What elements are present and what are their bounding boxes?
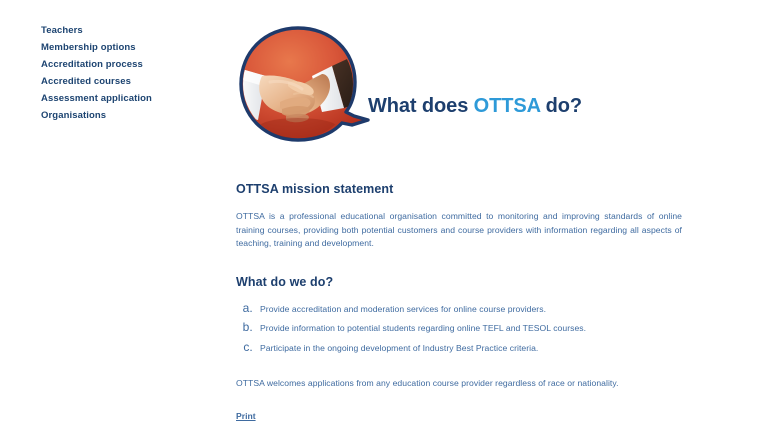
list-item-text: Provide information to potential student… [260,323,586,333]
mission-statement-heading: OTTSA mission statement [236,182,682,196]
speech-bubble-icon [236,24,388,148]
print-link[interactable]: Print [236,411,256,421]
list-item-text: Participate in the ongoing development o… [260,343,538,353]
page-title: What does OTTSA do? [368,95,582,118]
page-header: What does OTTSA do? [236,24,706,148]
page-title-suffix: do? [540,95,582,117]
sidebar-item-membership-options[interactable]: Membership options [41,39,216,56]
list-item: Provide accreditation and moderation ser… [256,299,682,319]
speech-bubble-graphic [236,24,388,148]
sidebar-item-accreditation-process[interactable]: Accreditation process [41,56,216,73]
sidebar-item-teachers[interactable]: Teachers [41,22,216,39]
closing-statement-text: OTTSA welcomes applications from any edu… [236,377,682,391]
page-title-highlight: OTTSA [474,95,541,117]
sidebar-item-accredited-courses[interactable]: Accredited courses [41,73,216,90]
sidebar-navigation: Teachers Membership options Accreditatio… [41,22,216,124]
list-item-text: Provide accreditation and moderation ser… [260,304,546,314]
list-item: Participate in the ongoing development o… [256,338,682,358]
list-item: Provide information to potential student… [256,318,682,338]
what-we-do-list: Provide accreditation and moderation ser… [236,299,682,358]
what-we-do-heading: What do we do? [236,275,682,289]
mission-statement-text: OTTSA is a professional educational orga… [236,210,682,251]
sidebar-item-assessment-application[interactable]: Assessment application [41,90,216,107]
page-title-prefix: What does [368,95,474,117]
main-content: OTTSA mission statement OTTSA is a profe… [236,182,682,424]
sidebar-item-organisations[interactable]: Organisations [41,107,216,124]
